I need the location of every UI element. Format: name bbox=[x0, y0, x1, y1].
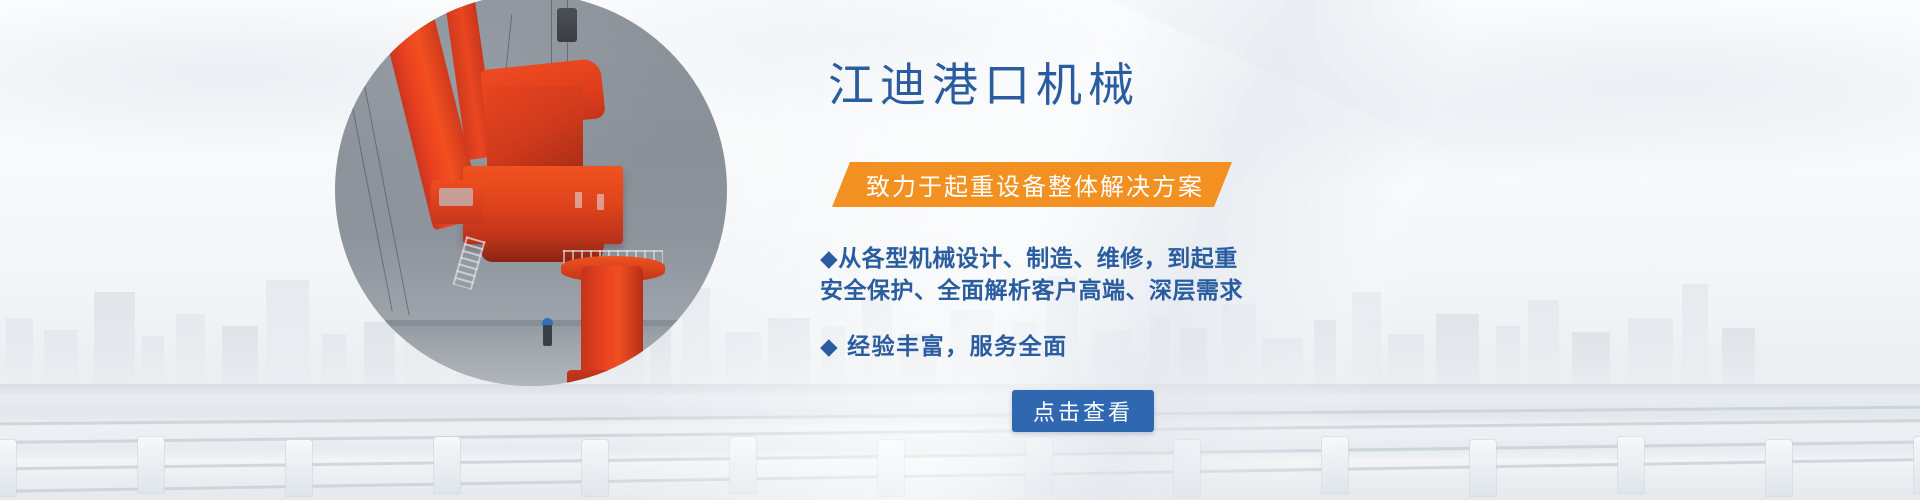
crane-machine-house bbox=[463, 166, 623, 244]
skyline-building bbox=[6, 318, 33, 388]
page-title: 江迪港口机械 bbox=[828, 62, 1140, 108]
crane-cab-window bbox=[439, 188, 473, 206]
banner-content: 江迪港口机械 致力于起重设备整体解决方案 ◆从各型机械设计、制造、维修，到起重 … bbox=[820, 0, 1580, 500]
dock-worker bbox=[543, 324, 552, 346]
road-barrier bbox=[1766, 440, 1792, 496]
hero-banner: 江迪港口机械 致力于起重设备整体解决方案 ◆从各型机械设计、制造、维修，到起重 … bbox=[0, 0, 1920, 500]
view-details-button[interactable]: 点击查看 bbox=[1012, 390, 1154, 432]
feature-item-1-line-1: ◆从各型机械设计、制造、维修，到起重 bbox=[820, 242, 1560, 274]
crane-house-window bbox=[575, 192, 582, 208]
skyline-building bbox=[1682, 284, 1708, 388]
road-barrier bbox=[1914, 437, 1920, 493]
feature-item-2: ◆ 经验丰富，服务全面 bbox=[820, 330, 1560, 362]
tagline-ribbon: 致力于起重设备整体解决方案 bbox=[832, 162, 1232, 207]
feature-item-2-line-1: ◆ 经验丰富，服务全面 bbox=[820, 330, 1560, 362]
skyline-building bbox=[222, 326, 258, 388]
crane-pedestal-tower bbox=[581, 266, 643, 386]
skyline-building bbox=[94, 292, 135, 388]
skyline-building bbox=[44, 330, 78, 388]
feature-item-1-line-2: 安全保护、全面解析客户高端、深层需求 bbox=[820, 274, 1560, 306]
crane-operator-cab bbox=[431, 180, 483, 224]
road-barrier bbox=[0, 440, 16, 496]
crane-tower-base bbox=[567, 370, 663, 386]
crane-machinery-housing bbox=[487, 86, 583, 172]
skyline-building bbox=[768, 318, 810, 388]
feature-list: ◆从各型机械设计、制造、维修，到起重 安全保护、全面解析客户高端、深层需求 ◆ … bbox=[820, 242, 1560, 362]
feature-item-1: ◆从各型机械设计、制造、维修，到起重 安全保护、全面解析客户高端、深层需求 bbox=[820, 242, 1560, 306]
road-barrier bbox=[730, 437, 756, 493]
road-barrier bbox=[138, 437, 164, 493]
skyline-building bbox=[726, 332, 761, 388]
skyline-building bbox=[1722, 328, 1755, 388]
crane-house-window bbox=[597, 194, 604, 210]
road-barrier bbox=[286, 440, 312, 496]
skyline-building bbox=[142, 336, 164, 388]
road-barrier bbox=[582, 440, 608, 496]
skyline-building bbox=[266, 280, 309, 388]
crane-cable bbox=[551, 0, 552, 64]
road-barrier bbox=[1618, 437, 1644, 493]
road-barrier bbox=[434, 437, 460, 493]
crane-photo-circle bbox=[335, 0, 727, 386]
crane-hook-block bbox=[557, 8, 577, 42]
photo-water bbox=[335, 326, 727, 386]
skyline-building bbox=[1628, 318, 1673, 388]
skyline-building bbox=[176, 314, 205, 388]
worker-helmet-icon bbox=[542, 318, 553, 325]
